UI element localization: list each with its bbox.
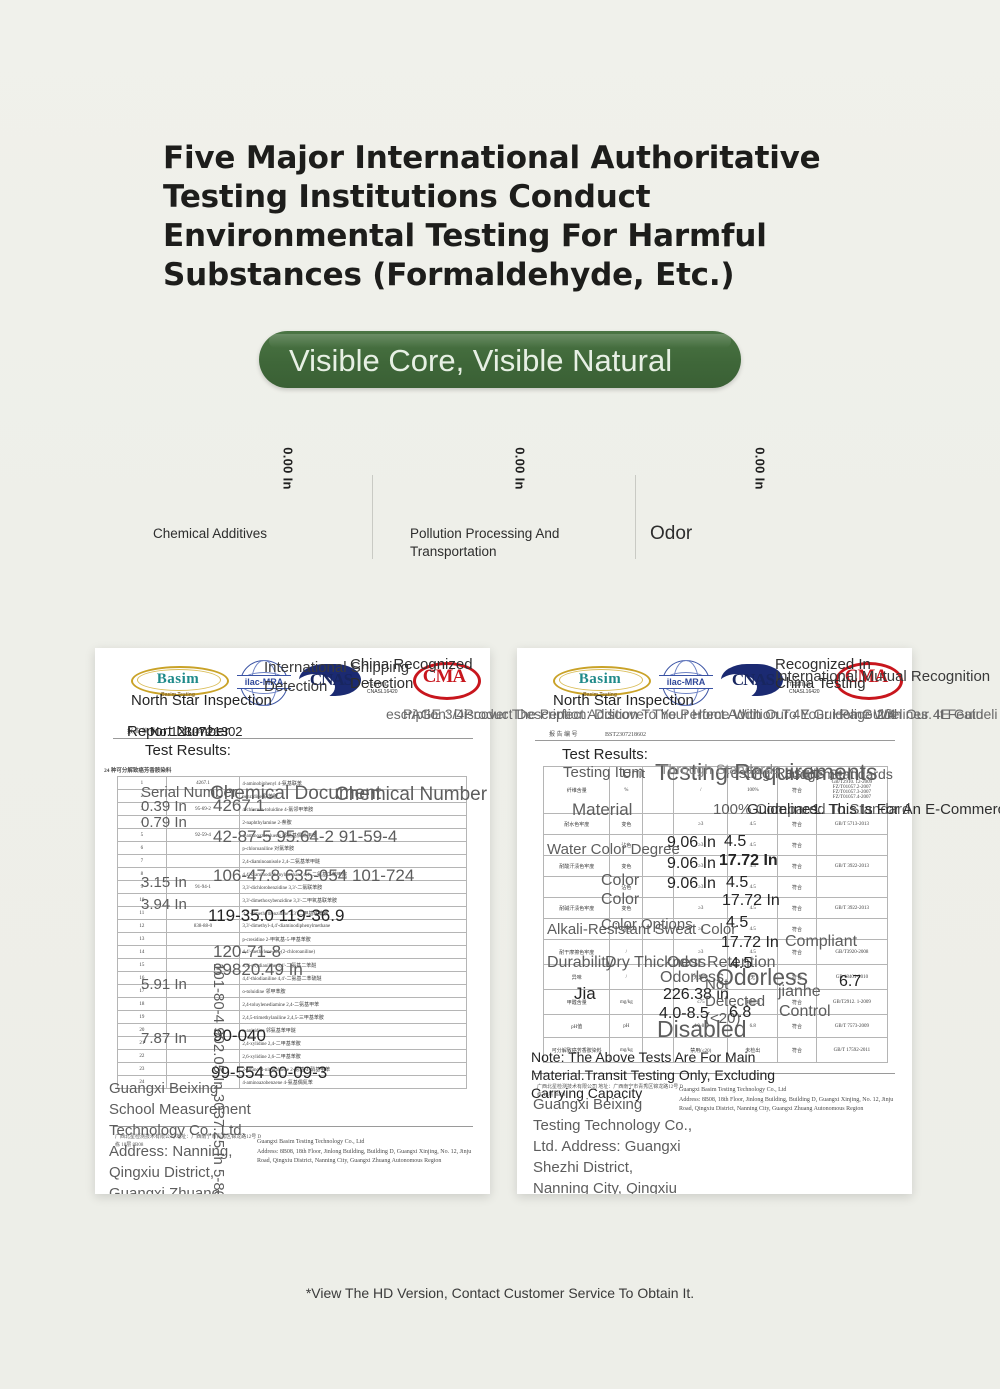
table-cell: GB/T 17592-2011	[816, 1038, 887, 1063]
table-row: 耐干摩擦色牢度/≥34.5符合GB/T3920-2008	[544, 940, 888, 965]
table-cell: /	[610, 940, 643, 965]
table-cell: %	[610, 767, 643, 814]
table-cell: 23	[118, 1063, 167, 1076]
table-row: pH值pH4.0-8.56.8符合GB/T 7573-2009	[544, 1015, 888, 1038]
table-cell: 2-naphthylamine 2-萘胺	[240, 816, 467, 829]
table-cell	[816, 877, 887, 898]
table-cell: 符合	[778, 965, 817, 990]
table-row: 244-aminoazobenzene 4-氨基偶氮苯	[118, 1076, 467, 1089]
stat-divider	[635, 475, 636, 559]
table-cell	[643, 814, 674, 835]
table-cell: 沾色	[610, 877, 643, 898]
table-row: 72,4-diaminoanisole 2,4-二氨基苯甲醚	[118, 855, 467, 868]
table-cell: 2,6-xylidine 2,6-二甲基苯胺	[240, 1050, 467, 1063]
table-row: 395-69-24-chloro-o-toluidine 4-氯邻甲苯胺	[118, 803, 467, 816]
scan-report-no-value: BST2307218602	[605, 731, 646, 739]
table-row: 6p-chloroaniline 对氯苯胺	[118, 842, 467, 855]
table-cell	[166, 946, 240, 959]
table-cell: 2	[118, 790, 167, 803]
table-cell	[643, 990, 674, 1015]
table-cell	[166, 1011, 240, 1024]
table-cell: 沾色	[610, 835, 643, 856]
table-row: 甲醛含量mg/kg≤75未检出符合GB/T2912. 1-2009	[544, 990, 888, 1015]
table-cell: p-cresidine 2-甲氧基-5-甲基苯胺	[240, 933, 467, 946]
table-cell: 92-59-4	[166, 829, 240, 842]
table-cell	[166, 933, 240, 946]
table-row: 42-naphthylamine 2-萘胺	[118, 816, 467, 829]
table-cell: 耐水色牢度	[544, 814, 610, 835]
table-cell: 符合	[778, 856, 817, 877]
scan-chemical-table: 14267.14-aminobiphenyl 4-氨基联苯2benzidine …	[117, 776, 467, 1089]
table-cell	[643, 877, 674, 898]
table-cell	[643, 965, 674, 990]
table-cell: 沾色	[610, 919, 643, 940]
table-cell: 14	[118, 946, 167, 959]
product-detail-page: Five Major International Authoritative T…	[0, 0, 1000, 1389]
table-cell: 2-amino-4-nitrotoluene 2-氨基-4-硝基甲苯	[240, 1063, 467, 1076]
table-cell: ≥3	[674, 919, 728, 940]
table-row: 154,4'-oxydianiline 4,4'-二氨基二苯醚	[118, 959, 467, 972]
table-cell	[643, 835, 674, 856]
table-cell	[166, 842, 240, 855]
stat-value: 0.00 In	[513, 447, 528, 490]
table-cell: 4.5	[728, 940, 778, 965]
table-cell: 无	[728, 965, 778, 990]
table-cell: 符合	[778, 990, 817, 1015]
table-cell: o-anisidine 邻氨基苯甲醚	[240, 1024, 467, 1037]
table-cell: ≥3	[674, 814, 728, 835]
table-row: 13p-cresidine 2-甲氧基-5-甲基苯胺	[118, 933, 467, 946]
table-cell: 9	[118, 881, 167, 894]
table-cell	[166, 1076, 240, 1089]
table-cell	[166, 1024, 240, 1037]
table-cell: 耐酸汗渍色牢度	[544, 856, 610, 877]
table-cell: ≥3	[674, 835, 728, 856]
stat-value: 0.00 In	[281, 447, 296, 490]
table-row: 沾色≥34.5符合	[544, 877, 888, 898]
table-cell	[166, 790, 240, 803]
table-cell: 8	[118, 868, 167, 881]
table-cell	[816, 835, 887, 856]
stat-label: Chemical Additives	[153, 525, 343, 543]
table-cell: 6	[118, 842, 167, 855]
stat-label: Pollution Processing And Transportation	[410, 525, 585, 561]
test-report-right[interactable]: Basim Basim Testing ilac-MRA CNAS TESTIN…	[517, 648, 912, 1194]
scan-company-name: Guangxi Basim Testing Technology Co., Lt…	[257, 1138, 472, 1147]
table-cell: 禁用(≤20)	[674, 1038, 728, 1063]
overlay-scan-note: 24 种可分解致癌芳香胺染料	[104, 766, 171, 774]
table-row: 103,3'-dimethoxybenzidine 3,3'-二甲氧基联苯胺	[118, 894, 467, 907]
scan-company-name: Guangxi Basim Testing Technology Co., Lt…	[679, 1086, 894, 1095]
table-row: 212,4-xylidine 2,4-二甲基苯胺	[118, 1037, 467, 1050]
table-cell: 耐干摩擦色牢度	[544, 940, 610, 965]
table-cell	[166, 972, 240, 985]
table-row: 84,4'-diaminodiphenylmethane 4,4'-二氨基二苯甲…	[118, 868, 467, 881]
table-cell: ≥3	[674, 877, 728, 898]
table-cell: 4.0-8.5	[674, 1015, 728, 1038]
table-cell: 2,4-diaminoanisole 2,4-二氨基苯甲醚	[240, 855, 467, 868]
table-cell	[643, 919, 674, 940]
table-cell: 符合	[778, 835, 817, 856]
table-cell: 15	[118, 959, 167, 972]
table-row: 耐碱汗渍色牢度变色≥34.5符合GB/T 3922-2013	[544, 898, 888, 919]
tagline-badge-label: Visible Core, Visible Natural	[289, 341, 759, 381]
table-row: 232-amino-4-nitrotoluene 2-氨基-4-硝基甲苯	[118, 1063, 467, 1076]
table-row: 20o-anisidine 邻氨基苯甲醚	[118, 1024, 467, 1037]
scan-company-address: Address: 8B08, 18th Floor, Jinlong Build…	[679, 1096, 894, 1114]
table-cell: 变色	[610, 814, 643, 835]
table-row: 沾色≥34.5符合	[544, 835, 888, 856]
table-cell	[166, 894, 240, 907]
table-cell: 异味	[544, 965, 610, 990]
table-cell: 4,4'-diaminodiphenylmethane 4,4'-二氨基二苯甲烷	[240, 868, 467, 881]
test-report-left[interactable]: Basim Basim Testing ilac-MRA CNAS TESTIN…	[95, 648, 490, 1194]
table-cell	[643, 856, 674, 877]
table-cell: 4.5	[728, 877, 778, 898]
table-cell: 91-94-1	[166, 881, 240, 894]
basim-logo-text: Basim	[131, 671, 225, 688]
table-cell: 4-aminoazobenzene 4-氨基偶氮苯	[240, 1076, 467, 1089]
table-row: 可分解致癌芳香胺染料mg/kg禁用(≤20)未检出符合GB/T 17592-20…	[544, 1038, 888, 1063]
table-cell: ≤75	[674, 990, 728, 1015]
divider	[113, 738, 473, 739]
overlay-through-standards: Through Standards	[660, 761, 780, 777]
table-cell: 甲醛含量	[544, 990, 610, 1015]
table-cell: 7	[118, 855, 167, 868]
table-cell: 2,4-toluylenediamine 2,4-二氨基甲苯	[240, 998, 467, 1011]
page-title: Five Major International Authoritative T…	[163, 139, 863, 295]
table-cell: 2,4,5-trimethylaniline 2,4,5-三甲基苯胺	[240, 1011, 467, 1024]
table-cell: 838-88-0	[166, 920, 240, 933]
table-cell	[816, 919, 887, 940]
footnote: *View The HD Version, Contact Customer S…	[0, 1285, 1000, 1301]
table-cell: 符合	[778, 940, 817, 965]
table-cell	[643, 1015, 674, 1038]
table-cell: 4,4'-thiodianiline 4,4'-二氨基二苯硫醚	[240, 972, 467, 985]
table-row: 沾色≥34.5符合	[544, 919, 888, 940]
table-cell: 20	[118, 1024, 167, 1037]
table-cell: 6.8	[728, 1015, 778, 1038]
basim-logo-icon: Basim Basim Testing	[553, 662, 647, 696]
table-cell: GB 18401-2010	[816, 965, 887, 990]
table-cell	[166, 1037, 240, 1050]
table-cell: 17	[118, 985, 167, 998]
table-cell: 纤维含量	[544, 767, 610, 814]
table-row: 12838-88-03,3'-dimethyl-4,4'-diaminodiph…	[118, 920, 467, 933]
stat-chemical-additives: 0.00 In Chemical Additives	[188, 455, 388, 575]
table-cell: 4,4'-methylene-bis-(2-chloroaniline)	[240, 946, 467, 959]
table-cell: 4267.1	[166, 777, 240, 790]
table-cell: 4,4'-oxydianiline 4,4'-二氨基二苯醚	[240, 959, 467, 972]
table-cell: pH值	[544, 1015, 610, 1038]
scan-report-no-value: No.1230721302	[183, 728, 222, 736]
table-cell: 符合	[778, 898, 817, 919]
overlay-guidelines-text: 1. This Is For An E-Commerce Con	[812, 801, 1000, 818]
table-cell: 符合	[778, 1038, 817, 1063]
table-cell: 5	[118, 829, 167, 842]
scan-stamp-text: 广西北星检测技术有限公司 地址：广西南宁市青秀区锦龙路12号 D栋 18层 8B…	[537, 1084, 687, 1100]
table-cell: 16	[118, 972, 167, 985]
table-cell: o-toluidine 邻甲苯胺	[240, 985, 467, 998]
table-cell	[166, 998, 240, 1011]
stat-pollution-processing: 0.00 In Pollution Processing And Transpo…	[420, 455, 620, 575]
table-row: 耐酸汗渍色牢度变色≥34.5符合GB/T 3922-2013	[544, 856, 888, 877]
table-cell: ≥3	[674, 898, 728, 919]
table-cell: o-aminoazotoluene 邻氨基偶氮甲苯	[240, 829, 467, 842]
table-row: 113,3'-dimethylbenzidine 3,3'-二甲基联苯胺	[118, 907, 467, 920]
table-row: 14267.14-aminobiphenyl 4-氨基联苯	[118, 777, 467, 790]
table-cell: 4.5	[728, 898, 778, 919]
table-cell: 2,4-xylidine 2,4-二甲基苯胺	[240, 1037, 467, 1050]
table-row: 991-94-13,3'-dichlorobenzidine 3,3'-二氯联苯…	[118, 881, 467, 894]
table-cell: 19	[118, 1011, 167, 1024]
table-cell: 11	[118, 907, 167, 920]
table-cell: /	[610, 965, 643, 990]
table-cell: 95-69-2	[166, 803, 240, 816]
table-cell	[166, 816, 240, 829]
divider	[535, 740, 895, 741]
table-row: 222,6-xylidine 2,6-二甲基苯胺	[118, 1050, 467, 1063]
table-cell	[544, 919, 610, 940]
table-cell: 3,3'-dichlorobenzidine 3,3'-二氯联苯胺	[240, 881, 467, 894]
test-report-left-content: Basim Basim Testing ilac-MRA CNAS TESTIN…	[95, 648, 490, 1194]
table-cell: 3,3'-dimethylbenzidine 3,3'-二甲基联苯胺	[240, 907, 467, 920]
table-cell: 4.5	[728, 835, 778, 856]
table-cell: pH	[610, 1015, 643, 1038]
table-cell: 3	[118, 803, 167, 816]
divider	[535, 1073, 895, 1074]
divider	[113, 1126, 473, 1127]
basim-logo-icon: Basim Basim Testing	[131, 662, 225, 696]
table-cell	[643, 940, 674, 965]
overlay-right-description: escription: Discover The Perfect Additio…	[386, 706, 857, 722]
table-cell: 未检出	[728, 990, 778, 1015]
scan-report-no-label: 报 告 编 号	[127, 728, 156, 736]
stat-label: Odor	[650, 525, 840, 543]
table-cell: 4-aminobiphenyl 4-氨基联苯	[240, 777, 467, 790]
table-cell	[643, 898, 674, 919]
table-cell	[166, 868, 240, 881]
table-cell: 24	[118, 1076, 167, 1089]
table-cell: 3,3'-dimethoxybenzidine 3,3'-二甲氧基联苯胺	[240, 894, 467, 907]
table-row: 17o-toluidine 邻甲苯胺	[118, 985, 467, 998]
stat-odor: 0.00 In Odor	[660, 455, 860, 575]
table-cell: 18	[118, 998, 167, 1011]
table-row: 592-59-4o-aminoazotoluene 邻氨基偶氮甲苯	[118, 829, 467, 842]
overlay-right-page-tail: Guidelines. It Featu	[862, 706, 983, 722]
table-cell	[166, 959, 240, 972]
overlay-china-recognized: China Recognized Detection	[350, 655, 530, 693]
table-row: 192,4,5-trimethylaniline 2,4,5-三甲基苯胺	[118, 1011, 467, 1024]
table-cell: p-chloroaniline 对氯苯胺	[240, 842, 467, 855]
table-cell: 12	[118, 920, 167, 933]
table-cell: 未检出	[728, 1038, 778, 1063]
stat-divider	[372, 475, 373, 559]
table-cell: 符合	[778, 919, 817, 940]
scan-report-no-label: 报 告 编 号	[549, 731, 578, 739]
scan-stamp-text: 广西北星检测技术有限公司 地址：广西南宁市青秀区锦龙路12号 D栋 18层 8B…	[115, 1134, 265, 1150]
overlay-guidelines-label: Guidelines:	[747, 801, 822, 818]
table-cell: 符合	[778, 1015, 817, 1038]
ilac-band-text: ilac-MRA	[659, 675, 713, 689]
test-report-right-content: Basim Basim Testing ilac-MRA CNAS TESTIN…	[517, 648, 912, 1194]
table-cell: 4.5	[728, 919, 778, 940]
table-row: 144,4'-methylene-bis-(2-chloroaniline)	[118, 946, 467, 959]
basim-logo-sub: Basim Testing	[553, 692, 647, 698]
stat-value: 0.00 In	[753, 447, 768, 490]
table-cell: 1	[118, 777, 167, 790]
table-cell: 无异味	[674, 965, 728, 990]
table-cell: 可分解致癌芳香胺染料	[544, 1038, 610, 1063]
table-cell: 变色	[610, 856, 643, 877]
table-cell: ≥3	[674, 940, 728, 965]
table-cell	[544, 877, 610, 898]
table-cell: 4.5	[728, 856, 778, 877]
table-cell: ≥3	[674, 856, 728, 877]
table-cell: GB/T 3922-2013	[816, 898, 887, 919]
table-cell: benzidine 联苯胺	[240, 790, 467, 803]
table-cell	[166, 1050, 240, 1063]
table-cell: 3,3'-dimethyl-4,4'-diaminodiphenylmethan…	[240, 920, 467, 933]
table-row: 2benzidine 联苯胺	[118, 790, 467, 803]
table-cell: 耐碱汗渍色牢度	[544, 898, 610, 919]
table-cell	[166, 985, 240, 998]
table-row: 182,4-toluylenediamine 2,4-二氨基甲苯	[118, 998, 467, 1011]
scan-company-address: Address: 8B08, 18th Floor, Jinlong Build…	[257, 1148, 472, 1166]
table-cell	[643, 1038, 674, 1063]
ilac-mra-logo-icon: ilac-MRA	[659, 658, 713, 706]
table-cell: GB/T 3922-2013	[816, 856, 887, 877]
table-cell: 符合	[778, 877, 817, 898]
table-cell: 22	[118, 1050, 167, 1063]
table-cell: 4-chloro-o-toluidine 4-氯邻甲苯胺	[240, 803, 467, 816]
table-row: 164,4'-thiodianiline 4,4'-二氨基二苯硫醚	[118, 972, 467, 985]
table-cell: 变色	[610, 898, 643, 919]
basim-logo-sub: Basim Testing	[131, 692, 225, 698]
table-cell	[166, 1063, 240, 1076]
table-cell: mg/kg	[610, 1038, 643, 1063]
table-cell: 13	[118, 933, 167, 946]
table-cell: GB/T2912. 1-2009	[816, 990, 887, 1015]
table-cell: 4	[118, 816, 167, 829]
overlay-intl-mutual: International Mutual Recognition	[775, 668, 990, 685]
table-cell: mg/kg	[610, 990, 643, 1015]
table-cell: GB/T 7573-2009	[816, 1015, 887, 1038]
table-row: 异味/无异味无符合GB 18401-2010	[544, 965, 888, 990]
table-cell	[166, 855, 240, 868]
table-cell	[544, 835, 610, 856]
table-cell	[166, 907, 240, 920]
stats-row: 0.00 In Chemical Additives 0.00 In Pollu…	[160, 455, 840, 575]
basim-logo-text: Basim	[553, 671, 647, 688]
table-cell: GB/T3920-2008	[816, 940, 887, 965]
table-cell: 21	[118, 1037, 167, 1050]
table-cell: 10	[118, 894, 167, 907]
